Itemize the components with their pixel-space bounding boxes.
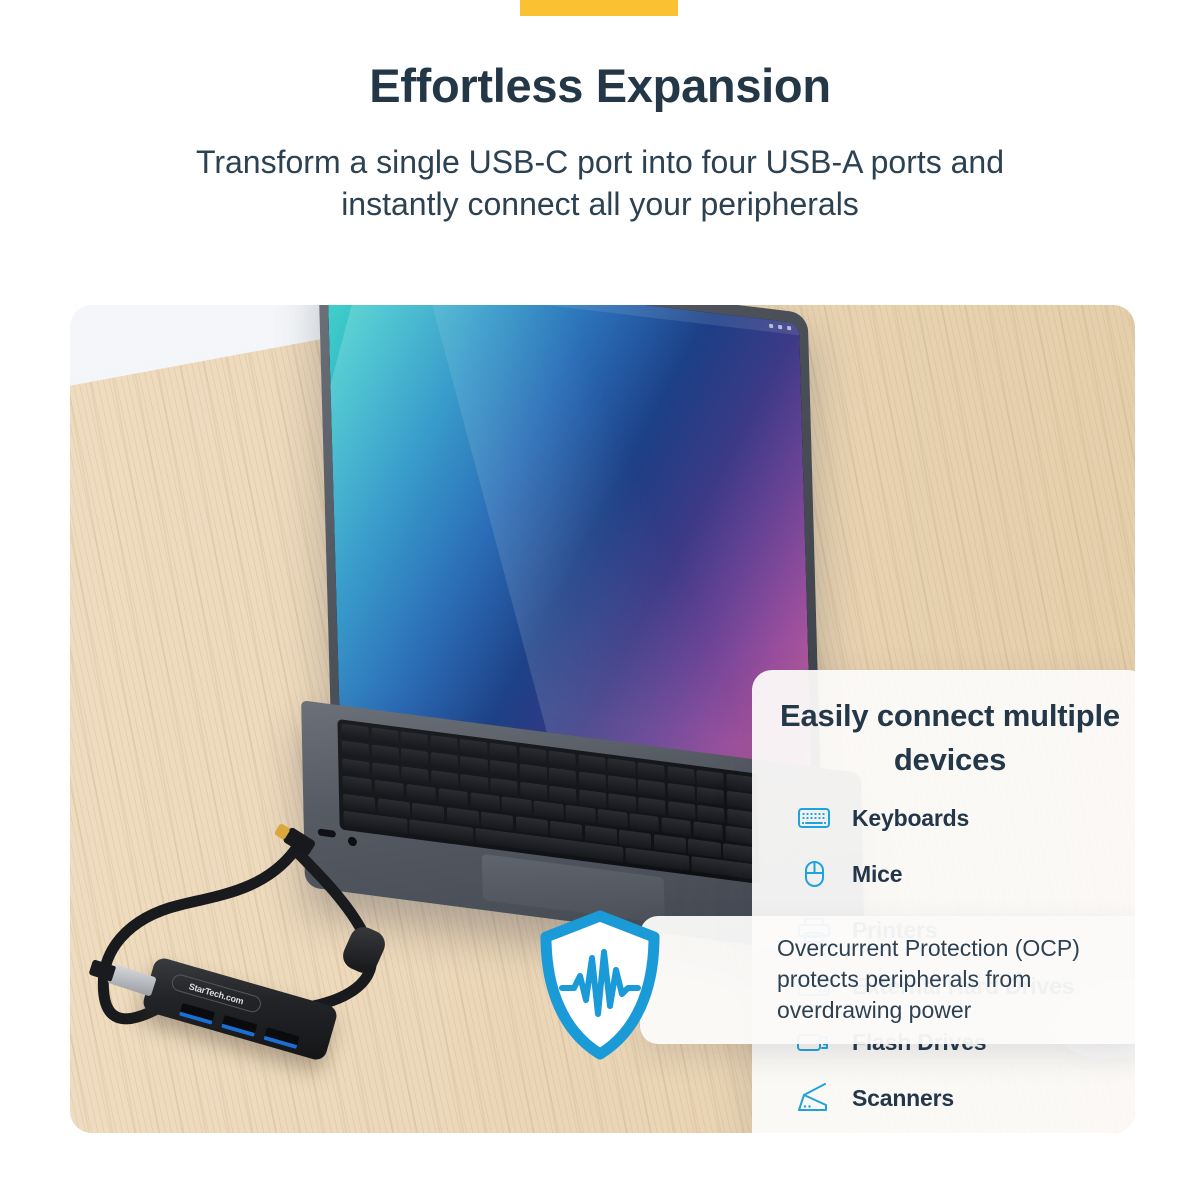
headphone-jack [348, 836, 357, 846]
keyboard-key [516, 816, 548, 835]
device-list-item-label: Keyboards [852, 805, 969, 832]
keyboard-key [371, 745, 398, 763]
device-list-item-label: Mice [852, 861, 902, 888]
keyboard-key [343, 793, 375, 812]
device-list-item: Keyboards [795, 790, 1135, 846]
keyboard-key [406, 784, 436, 803]
keyboard-key [401, 749, 428, 767]
page-subtitle: Transform a single USB-C port into four … [150, 141, 1050, 225]
keyboard-key [638, 762, 665, 780]
keyboard-key [371, 727, 398, 745]
keyboard-key [372, 762, 399, 780]
usb-port [179, 1003, 215, 1025]
keyboard-key [374, 780, 404, 799]
keyboard-key [412, 802, 444, 821]
keyboard-key [431, 753, 458, 771]
keyboard-key [460, 756, 487, 774]
device-list-item: And more [795, 1126, 1135, 1133]
page-title: Effortless Expansion [0, 58, 1200, 113]
keyboard-icon [795, 803, 833, 833]
keyboard-key [630, 813, 660, 832]
keyboard-key [481, 811, 513, 830]
wifi-icon [769, 324, 773, 328]
keyboard-key [638, 780, 665, 798]
keyboard-key [342, 741, 369, 759]
battery-icon [778, 325, 782, 329]
scanner-icon [795, 1083, 833, 1113]
keyboard-key [342, 758, 369, 776]
keyboard-key [401, 731, 428, 749]
keyboard-key [578, 754, 605, 772]
device-list-item: Scanners [795, 1070, 1135, 1126]
keyboard-key [579, 789, 606, 807]
usb-port [263, 1027, 299, 1049]
keyboard-key [343, 776, 373, 795]
menubar-status-icons [769, 324, 791, 331]
shield-waveform-icon [536, 910, 664, 1060]
device-list-item: Mice [795, 846, 1135, 902]
keyboard-key [549, 785, 576, 803]
keyboard-key [549, 768, 576, 786]
keyboard-key [534, 801, 564, 820]
keyboard-key [490, 778, 517, 796]
marketing-graphic: Effortless Expansion Transform a single … [0, 0, 1200, 1200]
keyboard-key [608, 776, 635, 794]
ocp-card: Overcurrent Protection (OCP) protects pe… [640, 916, 1135, 1044]
keyboard-key [447, 807, 479, 826]
keyboard-key [460, 739, 487, 757]
devices-card-title: Easily connect multiple devices [752, 694, 1135, 782]
keyboard-key [489, 743, 516, 761]
keyboard-key [609, 793, 636, 811]
keyboard-key [579, 772, 606, 790]
keyboard-key [519, 764, 546, 782]
keyboard-key [520, 782, 547, 800]
keyboard-key [470, 793, 500, 812]
keyboard-key [598, 809, 628, 828]
keyboard-key [550, 820, 582, 839]
keyboard-key [438, 788, 468, 807]
mouse-icon [795, 859, 833, 889]
ocp-card-text: Overcurrent Protection (OCP) protects pe… [777, 933, 1135, 1025]
keyboard-key [619, 829, 651, 848]
keyboard-key [502, 797, 532, 816]
keyboard-key [519, 747, 546, 765]
devices-card: Easily connect multiple devices Keyboard… [752, 670, 1135, 1133]
keyboard-key [549, 751, 576, 769]
usb-c-port [318, 828, 336, 837]
keyboard-key [461, 774, 488, 792]
keyboard-key [341, 724, 368, 742]
keyboard-key [431, 770, 458, 788]
product-photo-panel: StarTech.com Easily connect multiple dev… [70, 305, 1135, 1133]
device-list-item-label: Scanners [852, 1085, 954, 1112]
usb-port [221, 1015, 257, 1037]
keyboard-key [430, 735, 457, 753]
keyboard-key [585, 825, 617, 844]
keyboard-key [401, 766, 428, 784]
keyboard-key [566, 805, 596, 824]
keyboard-key [377, 798, 409, 817]
keyboard-key [490, 760, 517, 778]
keyboard-key [638, 797, 665, 815]
keyboard-key [608, 758, 635, 776]
clock-icon [787, 326, 791, 330]
accent-bar [520, 0, 678, 16]
